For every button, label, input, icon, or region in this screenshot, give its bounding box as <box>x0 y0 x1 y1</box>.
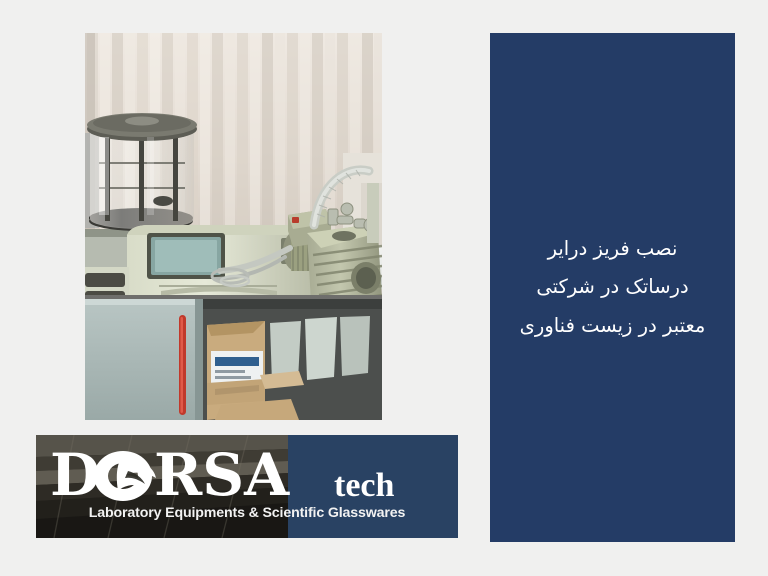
dorsatech-logo: D RSA tech Laboratory Equipments & Scien… <box>36 435 458 538</box>
caption-line-1: نصب فریز درایر <box>507 230 719 268</box>
logo-letter-d: D <box>50 447 100 505</box>
logo-letters-rsa: RSA <box>154 447 290 505</box>
logo-tagline: Laboratory Equipments & Scientific Glass… <box>36 505 458 521</box>
logo-wordmark: D RSA tech <box>36 447 458 505</box>
freeze-dryer-photo <box>85 33 382 420</box>
presentation-slide: نصب فریز درایر درساتک در شرکتی معتبر در … <box>0 0 768 576</box>
caption-line-2: درساتک در شرکتی <box>507 268 719 306</box>
logo-content: D RSA tech Laboratory Equipments & Scien… <box>36 435 458 538</box>
logo-suffix-tech: tech <box>334 467 395 504</box>
logo-leaf-o-icon <box>94 451 156 501</box>
photo-artwork <box>85 33 382 420</box>
caption-line-3: معتبر در زیست فناوری <box>507 307 719 345</box>
caption-text: نصب فریز درایر درساتک در شرکتی معتبر در … <box>507 230 719 344</box>
caption-panel: نصب فریز درایر درساتک در شرکتی معتبر در … <box>490 33 735 542</box>
